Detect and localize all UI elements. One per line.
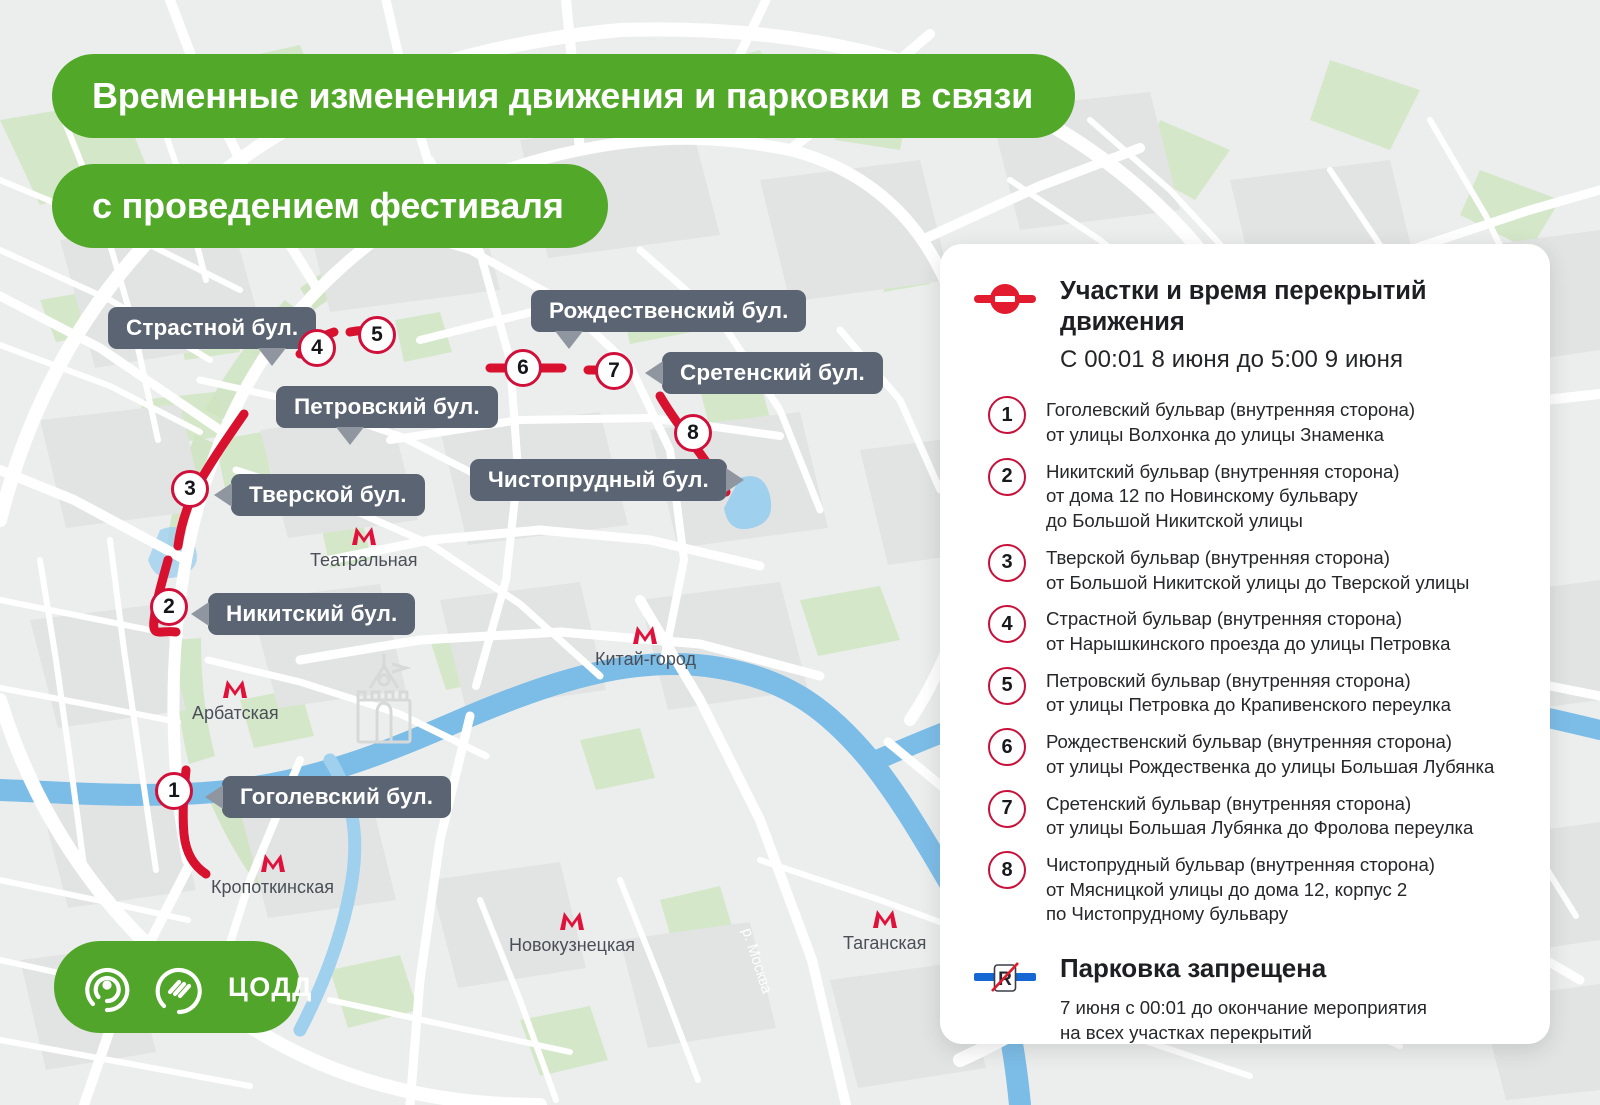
map-label-tverskoy[interactable]: Тверской бул. <box>231 474 425 516</box>
label-tail <box>191 602 209 626</box>
legend-item-5[interactable]: 5 Петровский бульвар (внутренняя сторона… <box>974 667 1520 718</box>
codd-label: ЦОДД <box>228 972 313 1003</box>
legend-item-description: Страстной бульвар (внутренняя сторона) о… <box>1046 605 1520 656</box>
legend-item-number: 6 <box>988 728 1026 766</box>
map-marker-5[interactable]: 5 <box>358 316 396 354</box>
header-banner-line1: Временные изменения движения и парковки … <box>52 54 1075 138</box>
metro-station-teatralnaya[interactable]: Театральная <box>310 525 417 571</box>
metro-label: Китай-город <box>595 649 696 670</box>
legend-closures-title: Участки и время перекрытий движения <box>1060 276 1520 338</box>
map-marker-2[interactable]: 2 <box>150 588 188 626</box>
map-label-text: Страстной бул. <box>126 315 298 340</box>
map-marker-7[interactable]: 7 <box>595 352 633 390</box>
metro-label: Театральная <box>310 550 417 571</box>
legend-item-number: 2 <box>988 458 1026 496</box>
legend-item-number: 1 <box>988 396 1026 434</box>
legend-parking-text: Парковка запрещена 7 июня с 00:01 до око… <box>1060 953 1427 1045</box>
legend-item-line: Никитский бульвар (внутренняя сторона) <box>1046 460 1520 485</box>
legend-item-line: Гоголевский бульвар (внутренняя сторона) <box>1046 398 1520 423</box>
metro-icon <box>350 525 378 547</box>
legend-item-description: Петровский бульвар (внутренняя сторона) … <box>1046 667 1520 718</box>
metro-label: Таганская <box>843 933 926 954</box>
map-marker-4[interactable]: 4 <box>298 329 336 367</box>
legend-item-line: от дома 12 по Новинскому бульвару <box>1046 484 1520 509</box>
legend-item-description: Тверской бульвар (внутренняя сторона) от… <box>1046 544 1520 595</box>
codd-swoosh-icon <box>148 956 210 1018</box>
map-label-nikitsky[interactable]: Никитский бул. <box>208 593 415 635</box>
label-tail <box>555 331 583 349</box>
legend-item-line: от Большой Никитской улицы до Тверской у… <box>1046 571 1520 596</box>
map-label-text: Гоголевский бул. <box>240 784 433 809</box>
metro-icon <box>558 910 586 932</box>
legend-parking-note-line: 7 июня с 00:01 до окончание мероприятия <box>1060 996 1427 1021</box>
legend-item-line: от Мясницкой улицы до дома 12, корпус 2 <box>1046 878 1520 903</box>
metro-station-novokuznetskaya[interactable]: Новокузнецкая <box>509 910 635 956</box>
metro-icon <box>259 852 287 874</box>
map-label-text: Тверской бул. <box>249 482 407 507</box>
legend-item-description: Чистопрудный бульвар (внутренняя сторона… <box>1046 851 1520 927</box>
legend-parking-section: R Парковка запрещена 7 июня с 00:01 до о… <box>974 953 1520 1045</box>
legend-item-line: Страстной бульвар (внутренняя сторона) <box>1046 607 1520 632</box>
map-label-text: Никитский бул. <box>226 601 397 626</box>
map-label-text: Рождественский бул. <box>549 298 788 323</box>
legend-item-6[interactable]: 6 Рождественский бульвар (внутренняя сто… <box>974 728 1520 779</box>
legend-item-line: от улицы Волхонка до улицы Знаменка <box>1046 423 1520 448</box>
header-banner-line2: с проведением фестиваля <box>52 164 608 248</box>
map-label-sretensky[interactable]: Сретенский бул. <box>662 352 883 394</box>
legend-item-line: Тверской бульвар (внутренняя сторона) <box>1046 546 1520 571</box>
label-tail <box>214 483 232 507</box>
legend-item-number: 5 <box>988 667 1026 705</box>
legend-item-line: Рождественский бульвар (внутренняя сторо… <box>1046 730 1520 755</box>
legend-item-3[interactable]: 3 Тверской бульвар (внутренняя сторона) … <box>974 544 1520 595</box>
legend-title-line2: движения <box>1060 308 1185 336</box>
label-tail <box>726 468 744 492</box>
legend-item-line: от улицы Большая Лубянка до Фролова пере… <box>1046 816 1520 841</box>
legend-item-line: от улицы Рождественка до улицы Большая Л… <box>1046 755 1520 780</box>
legend-item-number: 4 <box>988 605 1026 643</box>
legend-item-description: Сретенский бульвар (внутренняя сторона) … <box>1046 790 1520 841</box>
map-label-rozhdestvensky[interactable]: Рождественский бул. <box>531 290 806 332</box>
label-tail <box>336 427 364 445</box>
legend-closure-list: 1 Гоголевский бульвар (внутренняя сторон… <box>974 396 1520 927</box>
map-label-petrovsky[interactable]: Петровский бул. <box>276 386 498 428</box>
legend-item-4[interactable]: 4 Страстной бульвар (внутренняя сторона)… <box>974 605 1520 656</box>
map-label-text: Чистопрудный бул. <box>488 467 709 492</box>
metro-icon <box>871 908 899 930</box>
legend-closures-header: Участки и время перекрытий движения С 00… <box>974 276 1520 374</box>
legend-parking-title: Парковка запрещена <box>1060 953 1427 984</box>
legend-item-number: 3 <box>988 544 1026 582</box>
legend-item-number: 8 <box>988 851 1026 889</box>
no-entry-icon <box>974 276 1040 321</box>
legend-item-line: по Чистопрудному бульвару <box>1046 902 1520 927</box>
legend-item-line: от улицы Петровка до Крапивенского переу… <box>1046 693 1520 718</box>
metro-station-arbatskaya[interactable]: Арбатская <box>192 678 279 724</box>
metro-station-kropotkinskaya[interactable]: Кропоткинская <box>211 852 334 898</box>
legend-closures-time: С 00:01 8 июня до 5:00 9 июня <box>1060 346 1520 374</box>
legend-item-8[interactable]: 8 Чистопрудный бульвар (внутренняя сторо… <box>974 851 1520 927</box>
legend-item-line: Чистопрудный бульвар (внутренняя сторона… <box>1046 853 1520 878</box>
map-marker-6[interactable]: 6 <box>504 349 542 387</box>
legend-item-1[interactable]: 1 Гоголевский бульвар (внутренняя сторон… <box>974 396 1520 447</box>
legend-parking-note: 7 июня с 00:01 до окончание мероприятия … <box>1060 996 1427 1045</box>
map-label-text: Сретенский бул. <box>680 360 865 385</box>
map-marker-8[interactable]: 8 <box>674 414 712 452</box>
legend-item-description: Рождественский бульвар (внутренняя сторо… <box>1046 728 1520 779</box>
legend-title-line1: Участки и время перекрытий <box>1060 277 1426 305</box>
codd-pin-icon <box>76 956 138 1018</box>
legend-item-number: 7 <box>988 790 1026 828</box>
metro-station-taganskaya[interactable]: Таганская <box>843 908 926 954</box>
label-tail <box>645 361 663 385</box>
legend-closures-text: Участки и время перекрытий движения С 00… <box>1060 276 1520 374</box>
metro-icon <box>221 678 249 700</box>
legend-item-line: от Нарышкинского проезда до улицы Петров… <box>1046 632 1520 657</box>
label-tail <box>258 348 286 366</box>
map-marker-3[interactable]: 3 <box>171 470 209 508</box>
no-parking-icon: R <box>974 953 1040 1000</box>
legend-item-7[interactable]: 7 Сретенский бульвар (внутренняя сторона… <box>974 790 1520 841</box>
metro-station-kitaygorod[interactable]: Китай-город <box>595 624 696 670</box>
codd-logo[interactable]: ЦОДД <box>54 941 300 1033</box>
map-label-strastnoy[interactable]: Страстной бул. <box>108 307 316 349</box>
metro-icon <box>631 624 659 646</box>
legend-item-line: Сретенский бульвар (внутренняя сторона) <box>1046 792 1520 817</box>
legend-item-2[interactable]: 2 Никитский бульвар (внутренняя сторона)… <box>974 458 1520 534</box>
map-label-gogolevsky[interactable]: Гоголевский бул. <box>222 776 451 818</box>
map-label-chistoprudny[interactable]: Чистопрудный бул. <box>470 459 727 501</box>
legend-item-line: до Большой Никитской улицы <box>1046 509 1520 534</box>
legend-panel: Участки и время перекрытий движения С 00… <box>940 244 1550 1044</box>
legend-parking-note-line: на всех участках перекрытий <box>1060 1021 1427 1046</box>
legend-item-description: Никитский бульвар (внутренняя сторона) о… <box>1046 458 1520 534</box>
legend-item-description: Гоголевский бульвар (внутренняя сторона)… <box>1046 396 1520 447</box>
metro-label: Новокузнецкая <box>509 935 635 956</box>
metro-label: Кропоткинская <box>211 877 334 898</box>
map-label-text: Петровский бул. <box>294 394 480 419</box>
legend-item-line: Петровский бульвар (внутренняя сторона) <box>1046 669 1520 694</box>
infographic-page: р. Москва <box>0 0 1600 1105</box>
map-marker-1[interactable]: 1 <box>155 772 193 810</box>
metro-label: Арбатская <box>192 703 279 724</box>
label-tail <box>205 785 223 809</box>
